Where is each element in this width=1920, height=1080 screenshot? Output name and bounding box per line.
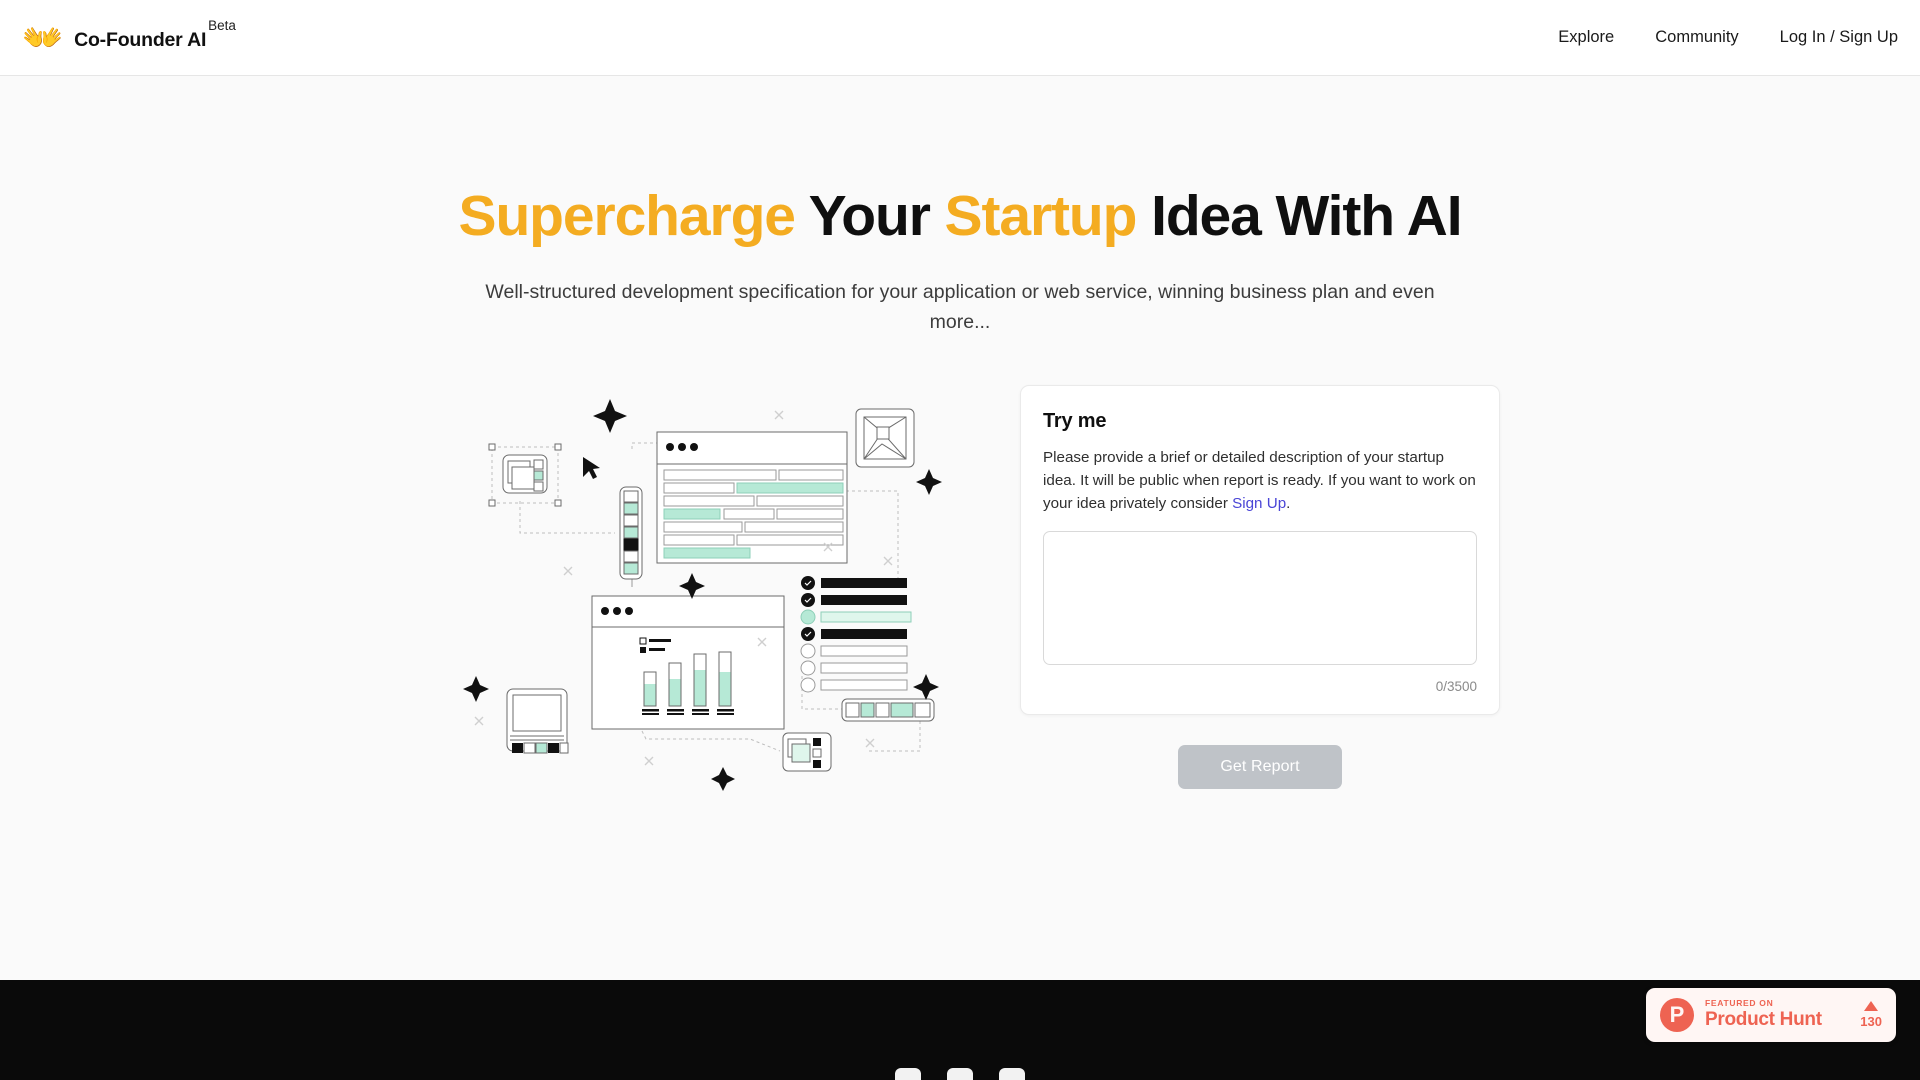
product-hunt-featured-label: FEATURED ON (1705, 999, 1822, 1008)
card-description: Please provide a brief or detailed descr… (1043, 446, 1477, 515)
site-footer: P FEATURED ON Product Hunt 130 (0, 980, 1920, 1080)
hero-illustration (450, 391, 950, 791)
sign-up-link[interactable]: Sign Up (1232, 495, 1286, 512)
character-counter: 0/3500 (1043, 679, 1477, 694)
site-header: 👐 Co-Founder AI Beta Explore Community L… (0, 0, 1920, 76)
submit-row: Get Report (1020, 745, 1500, 789)
page-subtitle: Well-structured development specificatio… (465, 277, 1455, 337)
product-hunt-name: Product Hunt (1705, 1010, 1822, 1031)
try-me-card: Try me Please provide a brief or detaile… (1020, 385, 1500, 715)
social-icon-3[interactable] (999, 1068, 1025, 1080)
page-title: Supercharge Your Startup Idea With AI (455, 183, 1465, 250)
card-title: Try me (1043, 410, 1477, 433)
hero-section: Supercharge Your Startup Idea With AI We… (0, 76, 1920, 338)
nav-item-login-signup[interactable]: Log In / Sign Up (1780, 20, 1898, 55)
main-content: Supercharge Your Startup Idea With AI We… (0, 76, 1920, 1080)
upvote-triangle-icon (1864, 1001, 1878, 1011)
hero-content-row: Try me Please provide a brief or detaile… (0, 385, 1920, 791)
product-hunt-badge[interactable]: P FEATURED ON Product Hunt 130 (1646, 988, 1896, 1042)
product-hunt-text: FEATURED ON Product Hunt (1705, 999, 1822, 1030)
beta-badge: Beta (208, 19, 236, 33)
product-hunt-logo-icon: P (1660, 998, 1694, 1032)
nav-item-community[interactable]: Community (1655, 20, 1738, 55)
social-icon-1[interactable] (895, 1068, 921, 1080)
try-me-column: Try me Please provide a brief or detaile… (1020, 385, 1500, 789)
open-hands-icon: 👐 (22, 21, 63, 54)
upvote-count: 130 (1860, 1014, 1882, 1029)
social-icon-2[interactable] (947, 1068, 973, 1080)
main-navigation: Explore Community Log In / Sign Up (1517, 20, 1898, 55)
headline-accent-startup: Startup (945, 184, 1137, 248)
nav-item-explore[interactable]: Explore (1558, 20, 1614, 55)
startup-idea-textarea[interactable] (1043, 531, 1477, 665)
headline-your: Your (795, 184, 945, 248)
get-report-button[interactable]: Get Report (1178, 745, 1341, 789)
headline-idea-with-ai: Idea With AI (1136, 184, 1461, 248)
brand-name: Co-Founder AI (74, 25, 206, 51)
product-hunt-upvotes: 130 (1860, 1001, 1882, 1029)
brand-logo-link[interactable]: 👐 Co-Founder AI Beta (22, 21, 236, 54)
card-description-period: . (1286, 495, 1290, 512)
footer-social-links (895, 1068, 1025, 1080)
brand-text: Co-Founder AI Beta (74, 25, 236, 51)
headline-accent-supercharge: Supercharge (459, 184, 795, 248)
